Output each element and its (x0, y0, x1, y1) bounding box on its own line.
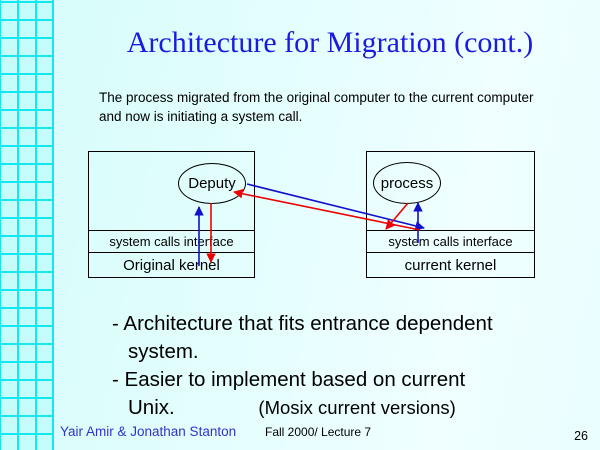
deputy-label: Deputy (188, 175, 236, 192)
bullet-text-1a: Architecture that fits entrance dependen… (123, 312, 492, 335)
left-computer-box (88, 151, 255, 231)
bullet-item-1-line-2: system. (112, 338, 582, 366)
footer-authors: Yair Amir & Jonathan Stanton (60, 424, 236, 439)
left-kernel-band: Original kernel (88, 252, 255, 278)
right-computer-box (366, 151, 535, 231)
footer-course: Fall 2000/ Lecture 7 (265, 425, 371, 439)
bullet-text-2a: Easier to implement based on current (125, 368, 466, 391)
bullet-marker-2: - (112, 368, 119, 391)
process-label: process (381, 175, 434, 192)
left-interface-label: system calls interface (109, 234, 233, 249)
bullet-item-1-line-1: - Architecture that fits entrance depend… (112, 310, 582, 338)
right-interface-label: system calls interface (388, 234, 512, 249)
mosix-note: (Mosix current versions) (258, 394, 455, 422)
left-grid-decoration (0, 0, 54, 450)
bullet-marker-1: - (112, 312, 119, 335)
bullet-text-2b: Unix. (128, 396, 175, 419)
left-kernel-label: Original kernel (123, 257, 220, 274)
intro-paragraph: The process migrated from the original c… (99, 88, 539, 126)
right-kernel-label: current kernel (405, 257, 497, 274)
bullet-item-2-line-2: Unix. (Mosix current versions) (112, 394, 582, 422)
right-system-calls-interface-band: system calls interface (366, 230, 535, 253)
footer-page-number: 26 (574, 429, 588, 443)
right-kernel-band: current kernel (366, 252, 535, 278)
bullet-text-1b: system. (128, 340, 199, 363)
page-title: Architecture for Migration (cont.) (70, 26, 590, 60)
left-system-calls-interface-band: system calls interface (88, 230, 255, 253)
arrow-deputy-to-right-interface (247, 184, 424, 228)
bullet-list: - Architecture that fits entrance depend… (112, 310, 582, 422)
deputy-node: Deputy (178, 163, 246, 204)
arrow-process-to-right-interface (386, 203, 408, 229)
process-node: process (373, 162, 441, 204)
slide-canvas: Architecture for Migration (cont.) The p… (0, 0, 600, 450)
arrow-right-interface-to-deputy (234, 192, 420, 230)
bullet-item-2-line-1: - Easier to implement based on current (112, 366, 582, 394)
